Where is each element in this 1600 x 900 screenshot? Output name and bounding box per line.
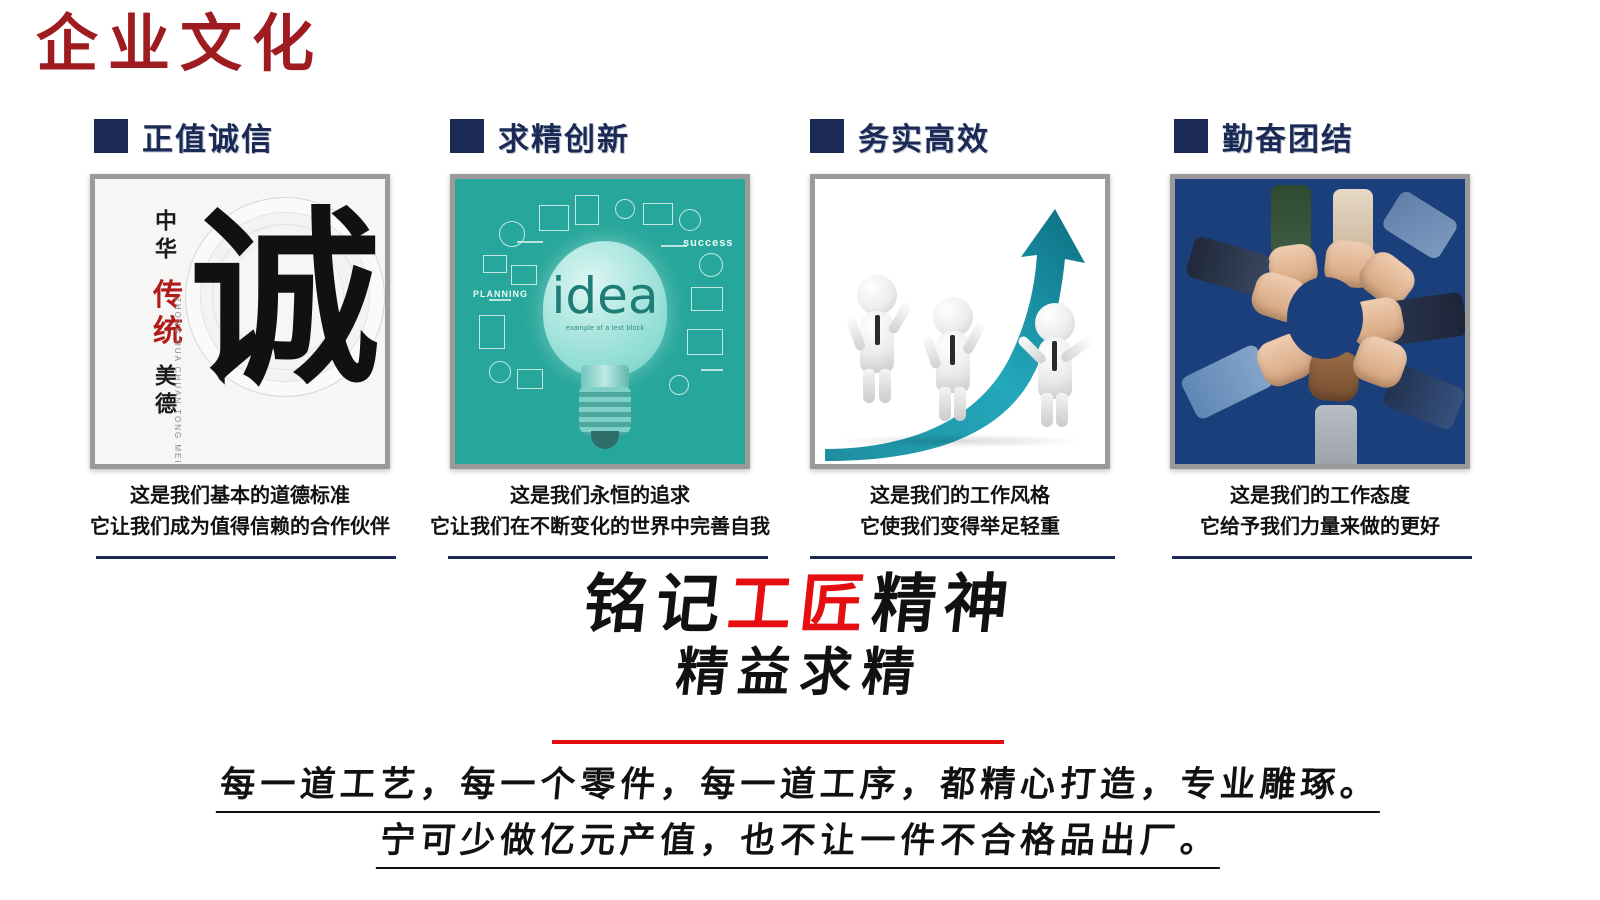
caption-line-2: 它使我们变得举足轻重 bbox=[780, 511, 1140, 542]
growth-arrow-team-image bbox=[815, 179, 1105, 464]
caption-underline bbox=[1172, 556, 1472, 559]
slogan-row-2: 宁可少做亿元产值，也不让一件不合格品出厂。 bbox=[0, 818, 1600, 869]
square-bullet-icon bbox=[810, 119, 844, 153]
caption-line-2: 它让我们在不断变化的世界中完善自我 bbox=[420, 511, 780, 542]
card-header: 求精创新 bbox=[450, 112, 630, 160]
slide-canvas: 企业文化 正值诚信 诚 中华 传统 美德 ZHONG HUA CHUAN TON… bbox=[0, 0, 1600, 900]
caption-underline bbox=[96, 556, 396, 559]
calligraphy-part-1: 铭记 bbox=[580, 567, 732, 642]
chinese-calligraphy-cheng-image: 诚 中华 传统 美德 ZHONG HUA CHUAN TONG MEI DE bbox=[95, 179, 385, 464]
card-heading: 正值诚信 bbox=[142, 114, 274, 159]
vertical-text-block: 中华 传统 美德 bbox=[123, 209, 179, 420]
pinyin-text: ZHONG HUA CHUAN TONG MEI DE bbox=[173, 297, 182, 469]
planning-label: PLANNING bbox=[473, 289, 528, 299]
center-gap bbox=[1287, 277, 1363, 359]
caption-line-2: 它给予我们力量来做的更好 bbox=[1140, 511, 1500, 542]
caption-line-1: 这是我们基本的道德标准 bbox=[60, 480, 420, 511]
fists-circle-image bbox=[1175, 179, 1465, 464]
card-header: 务实高效 bbox=[810, 112, 990, 160]
card-caption: 这是我们永恒的追求 它让我们在不断变化的世界中完善自我 bbox=[420, 480, 780, 542]
culture-card-innovation[interactable]: 求精创新 bbox=[420, 112, 780, 552]
calligraphy-line-2: 精益求精 bbox=[0, 642, 1600, 704]
page-title: 企业文化 bbox=[36, 8, 324, 79]
card-heading: 勤奋团结 bbox=[1222, 114, 1354, 159]
calligraphy-red-part: 工匠 bbox=[724, 567, 876, 642]
card-caption: 这是我们的工作态度 它给予我们力量来做的更好 bbox=[1140, 480, 1500, 542]
caption-underline bbox=[810, 556, 1115, 559]
idea-subtext: example of a text block bbox=[543, 325, 667, 332]
card-image-frame[interactable] bbox=[810, 174, 1110, 469]
calligraphy-part-2: 精神 bbox=[868, 567, 1020, 642]
slogan-line-1: 每一道工艺，每一个零件，每一道工序，都精心打造，专业雕琢。 bbox=[216, 762, 1384, 813]
slogan-line-2: 宁可少做亿元产值，也不让一件不合格品出厂。 bbox=[376, 818, 1224, 869]
slogan-row-1: 每一道工艺，每一个零件，每一道工序，都精心打造，专业雕琢。 bbox=[0, 762, 1600, 813]
square-bullet-icon bbox=[94, 119, 128, 153]
card-caption: 这是我们基本的道德标准 它让我们成为值得信赖的合作伙伴 bbox=[60, 480, 420, 542]
success-label: success bbox=[683, 237, 733, 249]
card-image-frame[interactable] bbox=[1170, 174, 1470, 469]
caption-line-2: 它让我们成为值得信赖的合作伙伴 bbox=[60, 511, 420, 542]
caption-underline bbox=[448, 556, 768, 559]
vertical-text-top: 中华 bbox=[151, 209, 177, 265]
card-header: 正值诚信 bbox=[94, 112, 274, 160]
square-bullet-icon bbox=[1174, 119, 1208, 153]
culture-cards-row: 正值诚信 诚 中华 传统 美德 ZHONG HUA CHUAN TONG MEI… bbox=[0, 112, 1600, 552]
culture-card-efficiency[interactable]: 务实高效 bbox=[780, 112, 1140, 552]
calligraphy-block: 铭记工匠精神 精益求精 bbox=[0, 568, 1600, 704]
culture-card-integrity[interactable]: 正值诚信 诚 中华 传统 美德 ZHONG HUA CHUAN TONG MEI… bbox=[60, 112, 420, 552]
caption-line-1: 这是我们的工作态度 bbox=[1140, 480, 1500, 511]
calligraphy-red-rule bbox=[552, 740, 1004, 744]
bulb-screw bbox=[579, 387, 631, 435]
ground-shadow bbox=[835, 434, 1085, 448]
culture-card-teamwork[interactable]: 勤奋团结 bbox=[1140, 112, 1500, 552]
card-image-frame[interactable]: idea example of a text block PLANNING su… bbox=[450, 174, 750, 469]
square-bullet-icon bbox=[450, 119, 484, 153]
caption-line-1: 这是我们永恒的追求 bbox=[420, 480, 780, 511]
card-image-frame[interactable]: 诚 中华 传统 美德 ZHONG HUA CHUAN TONG MEI DE bbox=[90, 174, 390, 469]
caption-line-1: 这是我们的工作风格 bbox=[780, 480, 1140, 511]
card-caption: 这是我们的工作风格 它使我们变得举足轻重 bbox=[780, 480, 1140, 542]
big-character-cheng: 诚 bbox=[190, 205, 380, 395]
card-header: 勤奋团结 bbox=[1174, 112, 1354, 160]
card-heading: 求精创新 bbox=[498, 114, 630, 159]
idea-word: idea bbox=[543, 271, 667, 321]
calligraphy-line-1: 铭记工匠精神 bbox=[0, 568, 1600, 642]
idea-lightbulb-image: idea example of a text block PLANNING su… bbox=[455, 179, 745, 464]
card-heading: 务实高效 bbox=[858, 114, 990, 159]
